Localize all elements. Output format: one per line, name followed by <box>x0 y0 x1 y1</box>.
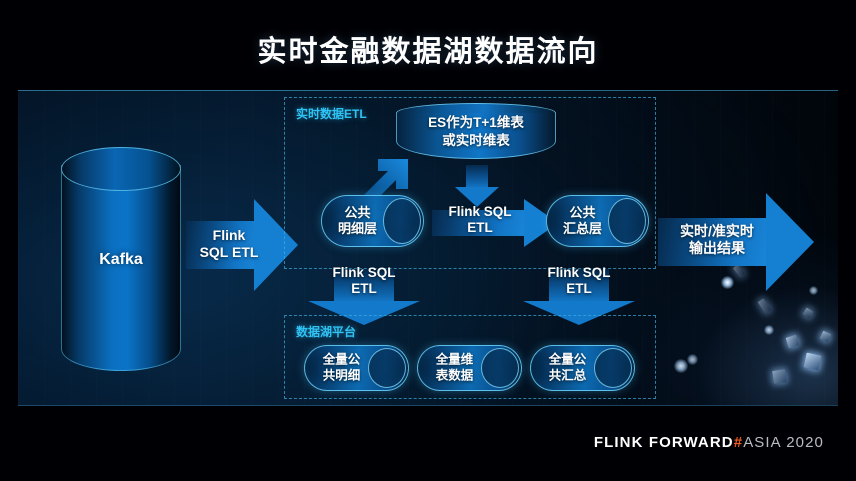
ingest-arrow-label: Flink SQL ETL <box>188 227 270 260</box>
store-line1: 全量公 <box>312 352 371 368</box>
cylinder-top-ellipse <box>61 147 181 191</box>
particle-glow <box>764 325 774 335</box>
cube-icon <box>758 298 772 314</box>
data-lake-store-full-detail: 全量公 共明细 <box>304 345 409 391</box>
store-line2: 表数据 <box>425 368 484 384</box>
footer-hash-icon: # <box>734 434 743 451</box>
store-line1: 全量维 <box>425 352 484 368</box>
page-title: 实时金融数据湖数据流向 <box>0 28 856 70</box>
kafka-label: Kafka <box>61 251 181 269</box>
es-cylinder-line1: ES作为T+1维表 <box>396 114 556 132</box>
cylinder-end-cap <box>368 348 406 388</box>
particle-glow <box>674 359 688 373</box>
mid-arrow-line1: Flink SQL <box>428 204 532 220</box>
kafka-source-cylinder: Kafka <box>61 147 181 371</box>
arrow-shaft <box>466 165 488 189</box>
footer-brand: FLINK FORWARD <box>594 434 734 451</box>
mid-etl-arrow: Flink SQL ETL <box>432 199 560 247</box>
store-line2: 共明细 <box>312 368 371 384</box>
cube-icon <box>804 353 822 371</box>
public-summary-layer-cylinder: 公共 汇总层 <box>546 195 649 247</box>
diagram-panel: Kafka Flink SQL ETL 实时数据ETL ES作为T+1维表 或实… <box>18 90 838 406</box>
store-line1: 全量公 <box>538 352 597 368</box>
footer-event: ASIA 2020 <box>743 434 824 451</box>
data-lake-store-full-dimension: 全量维 表数据 <box>417 345 522 391</box>
cylinder-end-cap <box>594 348 632 388</box>
ingest-arrow-line2: SQL ETL <box>188 244 270 261</box>
realtime-etl-group-title: 实时数据ETL <box>296 105 367 122</box>
output-arrow-label: 实时/准实时 输出结果 <box>658 223 776 256</box>
down-arrow-right-line2: ETL <box>523 281 635 297</box>
down-arrow-right-line1: Flink SQL <box>523 265 635 281</box>
output-arrow: 实时/准实时 输出结果 <box>658 193 816 291</box>
detail-layer-line2: 明细层 <box>329 221 386 237</box>
cube-icon <box>820 331 832 343</box>
down-arrow-right-label: Flink SQL ETL <box>523 265 635 297</box>
cylinder-end-cap <box>481 348 519 388</box>
es-cylinder-line2: 或实时维表 <box>396 132 556 150</box>
particle-glow <box>687 354 698 365</box>
es-dimension-cylinder: ES作为T+1维表 或实时维表 <box>396 103 556 165</box>
summary-layer-line1: 公共 <box>554 205 611 221</box>
mid-arrow-line2: ETL <box>428 220 532 236</box>
cylinder-end-cap <box>608 198 646 244</box>
data-lake-store-full-summary: 全量公 共汇总 <box>530 345 635 391</box>
store-label: 全量公 共明细 <box>312 352 371 383</box>
ingest-arrow: Flink SQL ETL <box>186 199 296 291</box>
down-arrow-left-label: Flink SQL ETL <box>308 265 420 297</box>
store-label: 全量公 共汇总 <box>538 352 597 383</box>
public-detail-layer-label: 公共 明细层 <box>329 205 386 238</box>
public-detail-layer-cylinder: 公共 明细层 <box>321 195 424 247</box>
store-label: 全量维 表数据 <box>425 352 484 383</box>
output-arrow-line1: 实时/准实时 <box>658 223 776 240</box>
summary-layer-line2: 汇总层 <box>554 221 611 237</box>
ingest-arrow-line1: Flink <box>188 227 270 244</box>
output-arrow-line2: 输出结果 <box>658 240 776 257</box>
down-arrow-left-line1: Flink SQL <box>308 265 420 281</box>
cube-icon <box>772 369 787 384</box>
cube-icon <box>802 307 813 318</box>
data-lake-group-title: 数据湖平台 <box>296 323 356 340</box>
detail-layer-line1: 公共 <box>329 205 386 221</box>
mid-etl-arrow-label: Flink SQL ETL <box>428 204 532 236</box>
footer-logo: FLINK FORWARD#ASIA 2020 <box>594 434 824 451</box>
cube-icon <box>786 335 800 349</box>
down-arrow-left-line2: ETL <box>308 281 420 297</box>
store-line2: 共汇总 <box>538 368 597 384</box>
slide-canvas: 实时金融数据湖数据流向 Kafka Flink SQL ETL <box>0 0 856 481</box>
es-cylinder-label: ES作为T+1维表 或实时维表 <box>396 114 556 150</box>
cylinder-end-cap <box>383 198 421 244</box>
public-summary-layer-label: 公共 汇总层 <box>554 205 611 238</box>
